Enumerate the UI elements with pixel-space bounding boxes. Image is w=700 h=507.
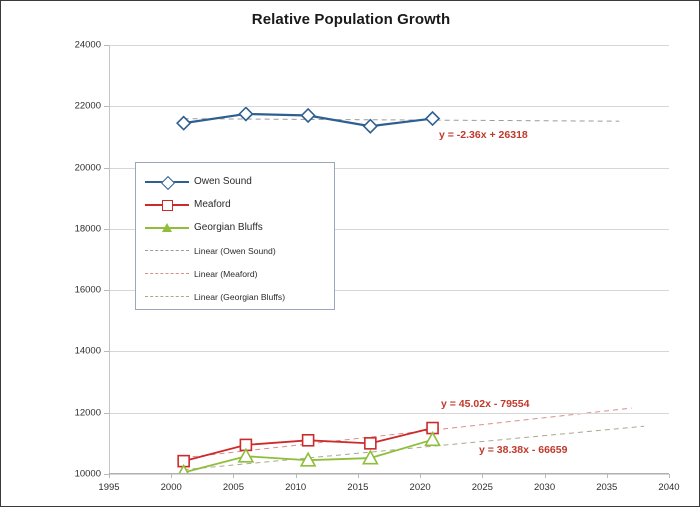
data-point-0-1: [239, 107, 252, 120]
x-tick-label-2015: 2015: [347, 482, 368, 493]
legend-label: Linear (Georgian Bluffs): [194, 292, 285, 302]
x-tick-2030: [545, 474, 546, 478]
x-tick-2015: [358, 474, 359, 478]
x-tick-2035: [607, 474, 608, 478]
data-point-1-2: [303, 435, 314, 446]
legend-key-dashed-icon: [145, 290, 189, 304]
legend-item-trendline-2[interactable]: Linear (Georgian Bluffs): [136, 285, 334, 308]
x-tick-2020: [420, 474, 421, 478]
x-tick-label-2020: 2020: [410, 482, 431, 493]
x-tick-label-2040: 2040: [658, 482, 679, 493]
data-point-1-3: [365, 438, 376, 449]
x-tick-label-2000: 2000: [161, 482, 182, 493]
legend-label: Linear (Owen Sound): [194, 246, 276, 256]
x-tick-label-2005: 2005: [223, 482, 244, 493]
y-tick-label-24000: 24000: [41, 40, 101, 51]
y-tick-label-14000: 14000: [41, 346, 101, 357]
x-tick-label-2035: 2035: [596, 482, 617, 493]
chart-legend: Owen SoundMeafordGeorgian BluffsLinear (…: [135, 162, 335, 310]
x-tick-1995: [109, 474, 110, 478]
legend-item-owen-sound[interactable]: Owen Sound: [136, 170, 334, 193]
legend-key-icon: [145, 175, 189, 189]
x-tick-2005: [233, 474, 234, 478]
y-tick-label-22000: 22000: [41, 101, 101, 112]
x-tick-label-2010: 2010: [285, 482, 306, 493]
legend-item-meaford[interactable]: Meaford: [136, 193, 334, 216]
data-point-0-2: [302, 109, 315, 122]
y-tick-label-16000: 16000: [41, 285, 101, 296]
chart-container: Relative Population Growth 1000012000140…: [0, 0, 700, 507]
y-axis-line: [109, 45, 110, 474]
x-tick-2000: [171, 474, 172, 478]
legend-key-icon: [145, 221, 189, 235]
gridline-y-10000: [109, 474, 669, 475]
gridline-y-12000: [109, 413, 669, 414]
legend-key-dashed-icon: [145, 244, 189, 258]
x-tick-label-2030: 2030: [534, 482, 555, 493]
x-tick-label-2025: 2025: [472, 482, 493, 493]
gridline-y-24000: [109, 45, 669, 46]
x-tick-2040: [669, 474, 670, 478]
trendline-0: [184, 119, 620, 122]
gridline-y-22000: [109, 106, 669, 107]
data-point-0-4: [426, 112, 439, 125]
y-tick-label-10000: 10000: [41, 469, 101, 480]
y-tick-label-12000: 12000: [41, 407, 101, 418]
data-point-0-3: [364, 120, 377, 133]
legend-item-trendline-0[interactable]: Linear (Owen Sound): [136, 239, 334, 262]
chart-title: Relative Population Growth: [1, 11, 700, 28]
legend-key-icon: [145, 198, 189, 212]
legend-label: Meaford: [194, 199, 231, 210]
x-tick-2025: [482, 474, 483, 478]
y-tick-label-20000: 20000: [41, 162, 101, 173]
legend-label: Owen Sound: [194, 176, 252, 187]
trendline-equation-georgian-bluffs: y = 38.38x - 66659: [479, 444, 567, 456]
legend-label: Georgian Bluffs: [194, 222, 263, 233]
gridline-y-14000: [109, 351, 669, 352]
legend-item-trendline-1[interactable]: Linear (Meaford): [136, 262, 334, 285]
trendline-equation-meaford: y = 45.02x - 79554: [441, 398, 529, 410]
legend-key-dashed-icon: [145, 267, 189, 281]
data-point-2-4: [426, 433, 440, 446]
y-tick-label-18000: 18000: [41, 223, 101, 234]
trendline-equation-owen-sound: y = -2.36x + 26318: [439, 129, 528, 141]
x-axis-line: [109, 473, 669, 474]
legend-item-georgian-bluffs[interactable]: Georgian Bluffs: [136, 216, 334, 239]
x-tick-label-1995: 1995: [98, 482, 119, 493]
legend-label: Linear (Meaford): [194, 269, 258, 279]
x-tick-2010: [296, 474, 297, 478]
